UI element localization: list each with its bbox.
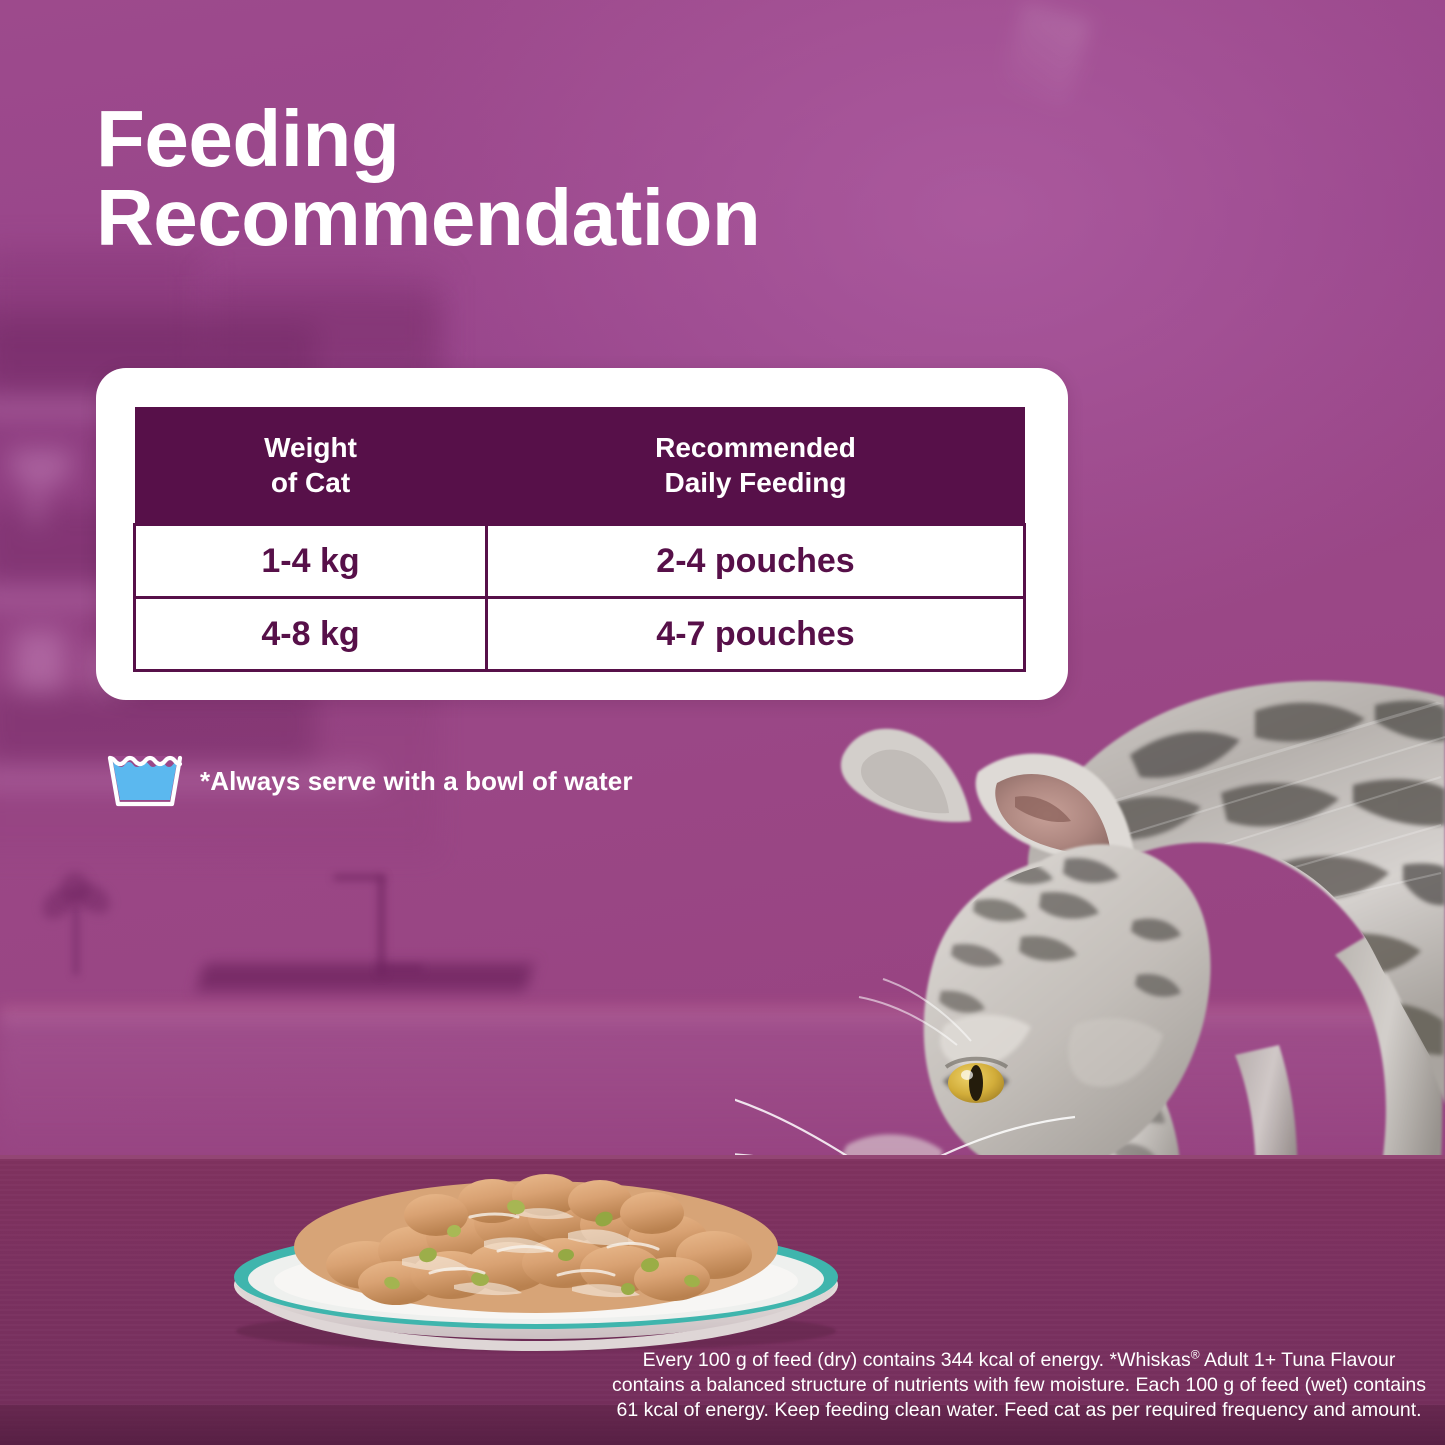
- faucet-spout: [333, 874, 385, 881]
- header-weight-line2: of Cat: [135, 465, 487, 500]
- header-weight-of-cat: Weight of Cat: [135, 407, 487, 525]
- faucet-stem: [378, 876, 385, 976]
- food-plate: [216, 1155, 856, 1355]
- cell-feeding-row2: 4-7 pouches: [487, 598, 1025, 671]
- table-row: 4-8 kg 4-7 pouches: [135, 598, 1025, 671]
- feeding-table-body: 1-4 kg 2-4 pouches 4-8 kg 4-7 pouches: [135, 525, 1025, 671]
- feeding-table-header-row: Weight of Cat Recommended Daily Feeding: [135, 407, 1025, 525]
- page-title-line1: Feeding: [96, 99, 916, 178]
- footer-disclaimer: Every 100 g of feed (dry) contains 344 k…: [606, 1348, 1432, 1423]
- feeding-table-head: Weight of Cat Recommended Daily Feeding: [135, 407, 1025, 525]
- feeding-table: Weight of Cat Recommended Daily Feeding …: [133, 407, 1026, 672]
- plant-stem: [73, 905, 79, 975]
- shelf-object-stand: [30, 486, 42, 526]
- table-row: 1-4 kg 2-4 pouches: [135, 525, 1025, 598]
- cell-weight-row1: 1-4 kg: [135, 525, 487, 598]
- header-feeding-line2: Daily Feeding: [487, 465, 1025, 500]
- cell-feeding-row1: 2-4 pouches: [487, 525, 1025, 598]
- water-bowl-icon: [104, 752, 186, 810]
- water-note: *Always serve with a bowl of water: [104, 752, 633, 810]
- page-title-line2: Recommendation: [96, 178, 916, 257]
- cell-weight-row2: 4-8 kg: [135, 598, 487, 671]
- shelf-object-jar: [14, 630, 66, 692]
- plant-leaf-top: [60, 872, 90, 902]
- page-title: Feeding Recommendation: [96, 99, 916, 257]
- header-weight-line1: Weight: [135, 430, 487, 465]
- water-note-text: *Always serve with a bowl of water: [200, 766, 633, 797]
- sink-basin: [197, 963, 534, 991]
- header-recommended-daily-feeding: Recommended Daily Feeding: [487, 407, 1025, 525]
- faucet-handle: [378, 965, 422, 973]
- footer-text-part1: Every 100 g of feed (dry) contains 344 k…: [643, 1349, 1191, 1371]
- registered-trademark-symbol: ®: [1191, 1348, 1200, 1362]
- header-feeding-line1: Recommended: [487, 430, 1025, 465]
- feeding-recommendation-panel: Weight of Cat Recommended Daily Feeding …: [0, 0, 1445, 1445]
